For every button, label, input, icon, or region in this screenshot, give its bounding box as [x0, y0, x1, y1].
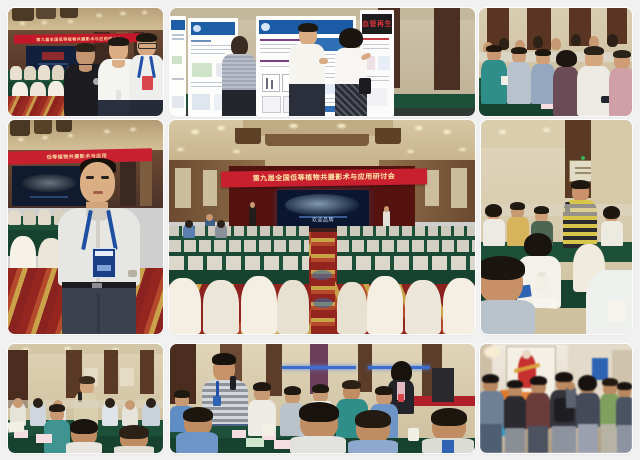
photo-collage: 第九届全国低等植物共摄影术与应用研讨会	[0, 0, 640, 460]
scene-main-hall: 第九届全国低等植物共摄影术与应用研讨会 欢迎品牌	[169, 120, 475, 334]
poster-viewer-white-shirt	[289, 24, 325, 116]
audience-member-grey	[507, 48, 531, 104]
audience-member-front-light-shirt	[577, 48, 611, 116]
scene-audience	[479, 8, 632, 116]
photo-audience-question[interactable]	[481, 120, 632, 334]
screen-welcome-text: 欢迎品牌	[277, 217, 369, 224]
photo-poster-session[interactable]: 血管再生	[170, 8, 475, 116]
attendee-blue-lanyard	[129, 34, 163, 116]
photo-meeting-room-discussion[interactable]	[8, 344, 163, 453]
event-banner-text: 第九届全国低等植物共摄影术与应用研讨会	[221, 172, 427, 184]
audience-back-1	[483, 206, 505, 246]
audience-member-blue	[531, 50, 555, 104]
lobby-person-3	[526, 378, 550, 453]
foreground-attendee-left	[176, 410, 218, 453]
foreground-attendee-right	[114, 428, 154, 453]
foreground-attendee-left	[66, 422, 102, 453]
photo-qa-session-wide[interactable]	[170, 344, 475, 453]
audience-back-4	[601, 208, 623, 246]
led-stage-screen: 欢迎品牌	[277, 190, 369, 230]
audience-member-woman-dark-top	[553, 52, 579, 116]
event-banner: 第九届全国低等植物共摄影术与应用研讨会	[221, 168, 427, 187]
scene-banquet-hall: 第九届全国低等植物共摄影术与应用研讨会	[8, 8, 163, 116]
photo-lobby-crowd[interactable]	[480, 344, 632, 453]
scene-qa-session	[170, 344, 475, 453]
scene-lobby	[480, 344, 632, 453]
scene-meeting-room	[8, 344, 163, 453]
poster-viewer-woman	[335, 30, 367, 116]
name-badge	[142, 76, 153, 90]
foreground-attendee-far-right	[422, 412, 474, 453]
scene-poster-hall: 血管再生	[170, 8, 475, 116]
scene-audience-question	[481, 120, 632, 334]
foreground-attendee	[481, 260, 535, 334]
poster-viewer-grey-shirt	[222, 36, 256, 116]
scene-banquet-hall-portrait: 低等植物共摄影术与应用	[8, 120, 163, 334]
lobby-person-1	[480, 376, 504, 453]
foreground-attendee-center	[290, 406, 346, 453]
lobby-person-5	[576, 378, 600, 453]
photo-conference-hall-wide[interactable]: 第九届全国低等植物共摄影术与应用研讨会 欢迎品牌	[169, 120, 475, 334]
microphone-icon	[230, 376, 236, 390]
foreground-attendee-right	[348, 414, 398, 453]
poster-board-1	[170, 16, 186, 116]
photo-group-portrait-three-men[interactable]: 第九届全国低等植物共摄影术与应用研讨会	[8, 8, 163, 116]
audience-member-teal	[481, 46, 507, 104]
delegate-portrait	[58, 160, 140, 334]
rollup-banner-title: 血管再生	[360, 19, 394, 29]
photo-delegate-portrait-with-badge[interactable]: 低等植物共摄影术与应用	[8, 120, 163, 334]
conference-name-badge	[92, 248, 116, 278]
lobby-person-7	[616, 384, 632, 453]
audience-member-pink-shirt	[609, 52, 632, 116]
lobby-person-2	[504, 382, 526, 453]
photo-seated-audience-row[interactable]	[479, 8, 632, 116]
